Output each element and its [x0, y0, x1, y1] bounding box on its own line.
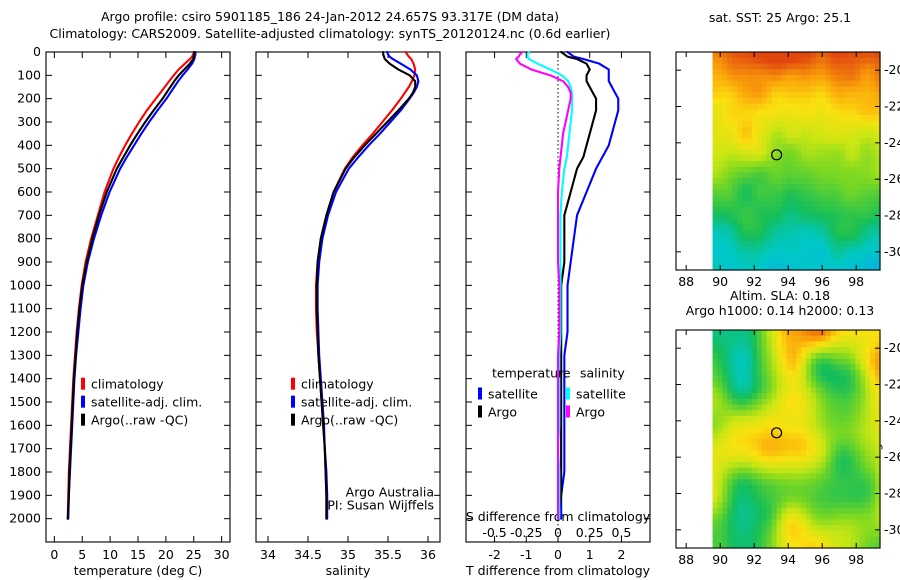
map-cell — [762, 382, 768, 388]
map-cell — [713, 259, 719, 265]
map-cell — [747, 502, 753, 508]
map-cell — [757, 450, 763, 456]
map-cell — [870, 382, 876, 388]
map-cell — [855, 393, 861, 399]
map-cell — [747, 69, 753, 75]
map-cell — [772, 190, 778, 196]
map-cell — [811, 224, 817, 230]
map-cell — [811, 81, 817, 87]
map-cell — [791, 399, 797, 405]
map-cell — [713, 537, 719, 543]
map-cell — [806, 115, 812, 121]
map-cell — [855, 479, 861, 485]
map-cell — [786, 259, 792, 265]
map-cell — [752, 422, 758, 428]
map-cell — [806, 241, 812, 247]
map-cell — [782, 121, 788, 127]
map-cell — [732, 115, 738, 121]
map-cell — [836, 359, 842, 365]
map-cell — [816, 63, 822, 69]
map-cell — [796, 52, 802, 58]
map-cell — [777, 479, 783, 485]
map-cell — [727, 167, 733, 173]
map-cell — [811, 336, 817, 342]
map-cell — [747, 519, 753, 525]
map-cell — [841, 195, 847, 201]
map-cell — [757, 155, 763, 161]
map-cell — [742, 207, 748, 213]
map-cell — [816, 138, 822, 144]
map-cell — [841, 132, 847, 138]
map-cell — [762, 259, 768, 265]
map-cell — [722, 514, 728, 520]
map-cell — [865, 218, 871, 224]
map-cell — [865, 502, 871, 508]
map-cell — [811, 514, 817, 520]
map-cell — [713, 347, 719, 353]
map-cell — [786, 336, 792, 342]
map-cell — [860, 456, 866, 462]
map-cell — [713, 393, 719, 399]
map-cell — [870, 422, 876, 428]
map-cell — [846, 184, 852, 190]
map-cell — [870, 502, 876, 508]
map-cell — [811, 98, 817, 104]
map-cell — [846, 207, 852, 213]
map-cell — [752, 259, 758, 265]
map-cell — [831, 81, 837, 87]
map-cell — [796, 347, 802, 353]
map-cell — [767, 92, 773, 98]
map-cell — [865, 468, 871, 474]
map-cell — [752, 121, 758, 127]
map-cell — [742, 230, 748, 236]
map-cell — [777, 63, 783, 69]
map-cell — [727, 376, 733, 382]
map-cell — [865, 184, 871, 190]
map-cell — [855, 241, 861, 247]
map-cell — [762, 531, 768, 537]
map-cell — [865, 410, 871, 416]
map-cell — [846, 247, 852, 253]
map-cell — [811, 537, 817, 543]
map-cell — [796, 462, 802, 468]
map-cell — [777, 376, 783, 382]
map-cell — [811, 109, 817, 115]
map-cell — [727, 109, 733, 115]
map-cell — [786, 399, 792, 405]
map-cell — [831, 428, 837, 434]
map-cell — [752, 150, 758, 156]
map-cell — [806, 353, 812, 359]
map-cell — [860, 514, 866, 520]
map-cell — [772, 161, 778, 167]
map-cell — [821, 428, 827, 434]
map-cell — [786, 485, 792, 491]
map-cell — [786, 178, 792, 184]
map-cell — [777, 450, 783, 456]
map-cell — [846, 531, 852, 537]
map-cell — [752, 247, 758, 253]
x-tick-label: 0 — [50, 547, 58, 562]
map-cell — [713, 382, 719, 388]
map-cell — [737, 172, 743, 178]
map-cell — [821, 531, 827, 537]
map-cell — [737, 336, 743, 342]
map-cell — [791, 410, 797, 416]
map-cell — [811, 496, 817, 502]
map-cell — [727, 336, 733, 342]
map-cell — [846, 393, 852, 399]
map-cell — [713, 485, 719, 491]
map-cell — [713, 190, 719, 196]
map-cell — [757, 387, 763, 393]
map-cell — [831, 207, 837, 213]
map-cell — [816, 86, 822, 92]
map-y-tick-label: -26 — [884, 171, 900, 186]
map-cell — [826, 92, 832, 98]
map-cell — [767, 473, 773, 479]
map-cell — [841, 502, 847, 508]
legend-swatch — [566, 388, 570, 400]
map-cell — [870, 428, 876, 434]
map-cell — [806, 456, 812, 462]
map-cell — [806, 422, 812, 428]
map-cell — [747, 92, 753, 98]
map-cell — [860, 213, 866, 219]
map-cell — [821, 525, 827, 531]
map-cell — [865, 485, 871, 491]
map-cell — [836, 178, 842, 184]
map-cell — [836, 439, 842, 445]
map-cell — [870, 253, 876, 259]
map-cell — [772, 485, 778, 491]
map-cell — [870, 207, 876, 213]
map-cell — [782, 58, 788, 64]
map-cell — [737, 144, 743, 150]
map-cell — [767, 138, 773, 144]
map-cell — [772, 178, 778, 184]
map-cell — [777, 86, 783, 92]
map-cell — [786, 98, 792, 104]
map-cell — [865, 104, 871, 110]
map-cell — [782, 178, 788, 184]
map-cell — [762, 433, 768, 439]
map-cell — [742, 115, 748, 121]
map-cell — [855, 456, 861, 462]
map-cell — [816, 172, 822, 178]
map-cell — [786, 190, 792, 196]
map-cell — [782, 468, 788, 474]
map-cell — [855, 399, 861, 405]
map-cell — [831, 410, 837, 416]
map-cell — [717, 69, 723, 75]
map-cell — [782, 359, 788, 365]
map-cell — [850, 456, 856, 462]
map-cell — [737, 52, 743, 58]
map-cell — [762, 195, 768, 201]
map-sla: 889092949698-20-22-24-26-28-30 — [676, 330, 900, 567]
map-cell — [782, 115, 788, 121]
map-cell — [777, 468, 783, 474]
map-cell — [717, 353, 723, 359]
map-cell — [713, 121, 719, 127]
map-cell — [826, 387, 832, 393]
map-cell — [777, 491, 783, 497]
map-cell — [782, 422, 788, 428]
map-cell — [846, 213, 852, 219]
map-cell — [865, 236, 871, 242]
map-cell — [841, 473, 847, 479]
map-cell — [782, 104, 788, 110]
map-cell — [717, 468, 723, 474]
map-cell — [841, 104, 847, 110]
map-cell — [786, 253, 792, 259]
map-cell — [855, 224, 861, 230]
map-cell — [757, 382, 763, 388]
map-cell — [836, 81, 842, 87]
map-cell — [841, 98, 847, 104]
map-cell — [816, 439, 822, 445]
map-cell — [841, 115, 847, 121]
map-cell — [762, 376, 768, 382]
map-cell — [846, 422, 852, 428]
map-cell — [742, 519, 748, 525]
map-cell — [762, 150, 768, 156]
map-cell — [786, 410, 792, 416]
map-cell — [816, 201, 822, 207]
map-cell — [811, 127, 817, 133]
map-x-tick-label: 96 — [814, 274, 830, 289]
map-cell — [855, 450, 861, 456]
map-cell — [782, 416, 788, 422]
map-cell — [850, 330, 856, 336]
map-cell — [850, 491, 856, 497]
map-cell — [796, 416, 802, 422]
map-cell — [796, 132, 802, 138]
map-cell — [821, 92, 827, 98]
pi-label: PI: Susan Wijffels — [327, 497, 434, 512]
map-cell — [786, 353, 792, 359]
map-cell — [841, 370, 847, 376]
map-cell — [732, 405, 738, 411]
map-cell — [860, 167, 866, 173]
map-cell — [841, 382, 847, 388]
map-cell — [836, 98, 842, 104]
map-cell — [836, 161, 842, 167]
map-cell — [742, 63, 748, 69]
map-cell — [727, 253, 733, 259]
map-cell — [737, 75, 743, 81]
map-cell — [801, 241, 807, 247]
map-cell — [777, 104, 783, 110]
map-cell — [796, 468, 802, 474]
map-cell — [870, 155, 876, 161]
map-cell — [757, 399, 763, 405]
map-cell — [732, 127, 738, 133]
map-cell — [811, 382, 817, 388]
map-cell — [841, 75, 847, 81]
map-cell — [850, 241, 856, 247]
map-cell — [713, 241, 719, 247]
map-cell — [737, 445, 743, 451]
map-cell — [865, 428, 871, 434]
map-cell — [836, 531, 842, 537]
map-cell — [841, 144, 847, 150]
map-cell — [846, 399, 852, 405]
map-cell — [846, 468, 852, 474]
map-cell — [865, 253, 871, 259]
map-cell — [786, 167, 792, 173]
map-cell — [796, 473, 802, 479]
map-cell — [850, 519, 856, 525]
map-cell — [782, 410, 788, 416]
map-cell — [826, 508, 832, 514]
map-cell — [860, 525, 866, 531]
map-cell — [831, 468, 837, 474]
map-cell — [801, 473, 807, 479]
map-cell — [811, 519, 817, 525]
map-cell — [821, 341, 827, 347]
map-cell — [836, 353, 842, 359]
x-tick-label: 35 — [340, 547, 356, 562]
map-cell — [742, 468, 748, 474]
map-cell — [846, 201, 852, 207]
map-cell — [777, 330, 783, 336]
map-cell — [836, 63, 842, 69]
map-cell — [727, 359, 733, 365]
map-cell — [841, 213, 847, 219]
map-cell — [786, 496, 792, 502]
map-cell — [737, 359, 743, 365]
map-cell — [786, 370, 792, 376]
map-cell — [786, 172, 792, 178]
map-cell — [870, 531, 876, 537]
map-cell — [742, 150, 748, 156]
map-cell — [722, 468, 728, 474]
map-cell — [836, 127, 842, 133]
map-cell — [747, 422, 753, 428]
map-cell — [747, 416, 753, 422]
map-cell — [777, 359, 783, 365]
map-cell — [722, 109, 728, 115]
map-cell — [816, 178, 822, 184]
map-cell — [772, 450, 778, 456]
map-y-tick-label: -28 — [884, 486, 900, 501]
map-cell — [713, 519, 719, 525]
map-cell — [767, 63, 773, 69]
map-cell — [836, 468, 842, 474]
map-cell — [737, 416, 743, 422]
map-cell — [860, 347, 866, 353]
map-cell — [836, 144, 842, 150]
map-cell — [796, 445, 802, 451]
map-cell — [757, 75, 763, 81]
map-cell — [870, 92, 876, 98]
map-cell — [782, 161, 788, 167]
map-cell — [762, 253, 768, 259]
map-cell — [841, 201, 847, 207]
map-cell — [860, 184, 866, 190]
map-cell — [742, 144, 748, 150]
map-cell — [801, 104, 807, 110]
map-cell — [727, 353, 733, 359]
map-cell — [772, 382, 778, 388]
map-cell — [791, 86, 797, 92]
map-cell — [722, 485, 728, 491]
map-cell — [786, 121, 792, 127]
map-cell — [801, 184, 807, 190]
map-cell — [782, 150, 788, 156]
map-cell — [782, 462, 788, 468]
map-cell — [737, 479, 743, 485]
map-cell — [762, 387, 768, 393]
map-cell — [806, 178, 812, 184]
map-cell — [811, 190, 817, 196]
map-cell — [782, 92, 788, 98]
map-cell — [860, 98, 866, 104]
map-cell — [717, 213, 723, 219]
map-cell — [860, 359, 866, 365]
map-cell — [737, 519, 743, 525]
map-cell — [757, 127, 763, 133]
map-cell — [806, 336, 812, 342]
map-cell — [860, 161, 866, 167]
map-cell — [762, 155, 768, 161]
map-cell — [870, 496, 876, 502]
map-cell — [742, 167, 748, 173]
map-cell — [786, 445, 792, 451]
map-cell — [821, 439, 827, 445]
map-cell — [791, 508, 797, 514]
map-cell — [767, 531, 773, 537]
map-cell — [816, 473, 822, 479]
map-cell — [732, 399, 738, 405]
map-cell — [821, 144, 827, 150]
map-cell — [757, 416, 763, 422]
map-cell — [860, 473, 866, 479]
map-cell — [742, 178, 748, 184]
map-cell — [717, 241, 723, 247]
map-cell — [865, 341, 871, 347]
map-cell — [772, 422, 778, 428]
map-cell — [742, 92, 748, 98]
map-cell — [717, 201, 723, 207]
map-cell — [850, 86, 856, 92]
map-cell — [732, 81, 738, 87]
map-cell — [767, 127, 773, 133]
map-cell — [757, 393, 763, 399]
map-cell — [806, 167, 812, 173]
map-cell — [737, 190, 743, 196]
map-cell — [870, 109, 876, 115]
map-cell — [796, 63, 802, 69]
map-cell — [831, 52, 837, 58]
map-cell — [796, 364, 802, 370]
map-cell — [727, 496, 733, 502]
map-cell — [806, 537, 812, 543]
map-cell — [801, 195, 807, 201]
map-cell — [806, 98, 812, 104]
map-cell — [831, 519, 837, 525]
map-cell — [732, 247, 738, 253]
map-cell — [722, 473, 728, 479]
map-cell — [791, 370, 797, 376]
map-cell — [727, 236, 733, 242]
map-cell — [870, 479, 876, 485]
map-cell — [782, 330, 788, 336]
x-tick-label-temperature: -1 — [520, 547, 532, 562]
